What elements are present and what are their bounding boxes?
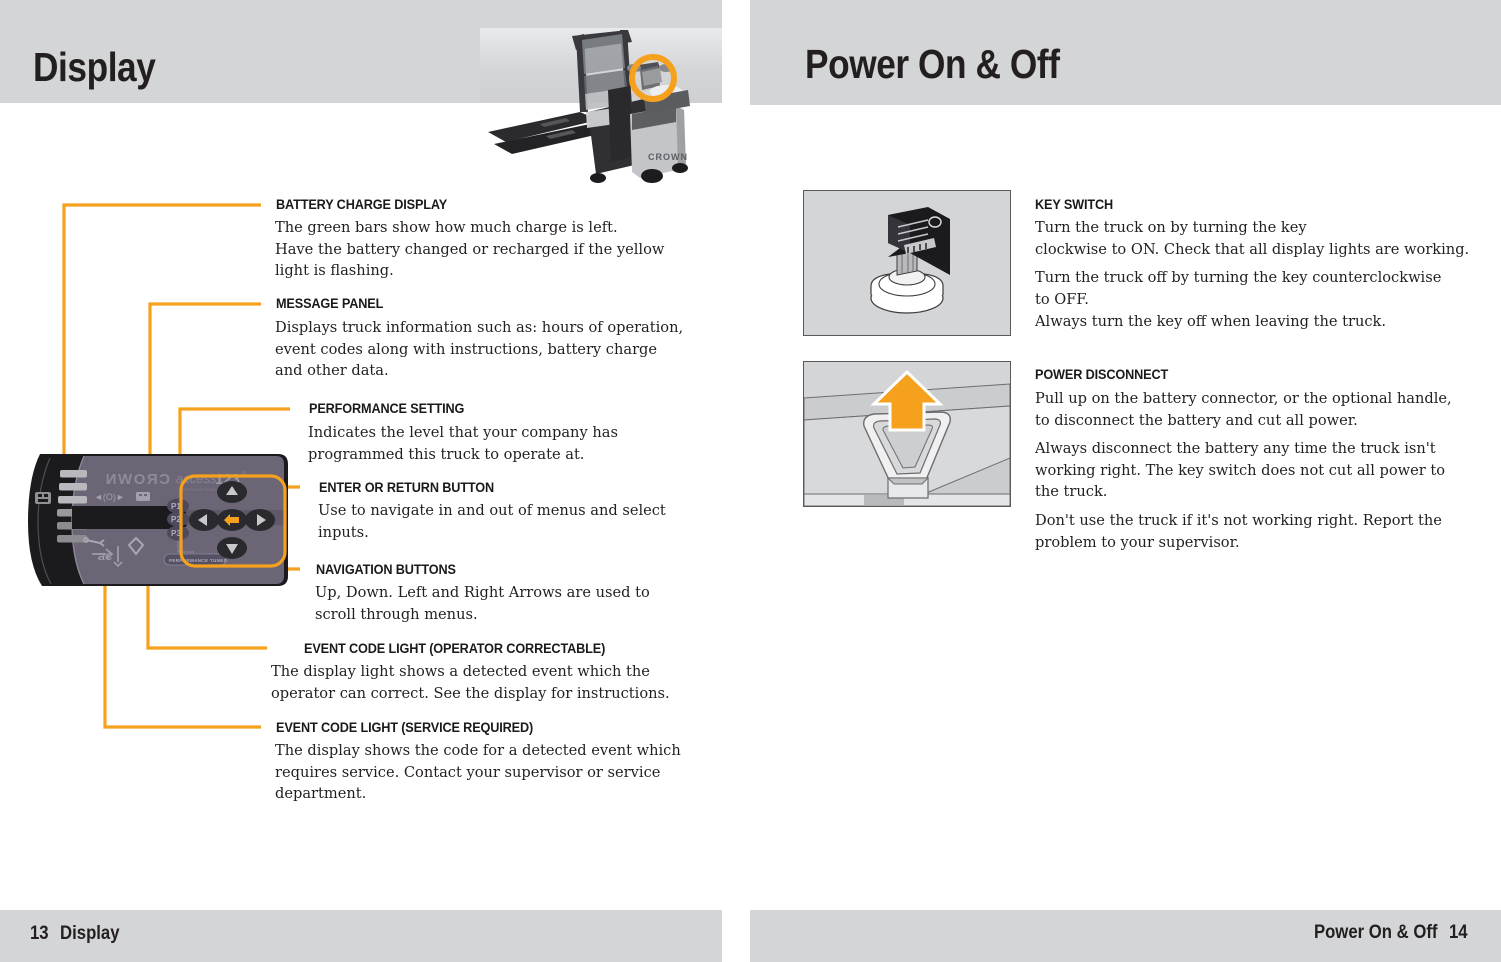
display-panel-illustration: CROWN access 123 ® performance made easy… [26,444,292,594]
footer-section-label: Power On & Off [1314,922,1438,943]
svg-text:P2: P2 [171,515,181,524]
page-title-display: Display [33,44,155,91]
svg-text:P3: P3 [171,529,181,538]
annotation-title-performance-setting: PERFORMANCE SETTING [309,401,464,416]
pallet-truck-photo: CROWN [480,28,722,200]
annotation-body-performance-setting: Indicates the level that your company ha… [308,422,708,465]
battery-icon [35,492,51,504]
svg-text:P1: P1 [171,502,181,511]
power-disconnect-figure [803,361,1011,507]
horn-icon: ◄(O)► [94,492,125,502]
annotation-body-message-panel: Displays truck information such as: hour… [275,317,715,382]
left-page: Display [0,0,722,962]
manual-spread: Display [0,0,1501,962]
right-page: Power On & Off [750,0,1501,962]
performance-tuned-label: PERFORMANCE TUNED [164,554,228,565]
annotation-title-event-code-light-operator-correctable: EVENT CODE LIGHT (OPERATOR CORRECTABLE) [304,641,605,656]
section-paragraph-power-disconnect-1: Pull up on the battery connector, or the… [1035,388,1495,431]
annotation-body-enter-or-return-button: Use to navigate in and out of menus and … [318,500,718,543]
section-paragraph-power-disconnect-2: Always disconnect the battery any time t… [1035,438,1495,503]
svg-text:access: access [176,471,217,486]
page-title-power-on-off: Power On & Off [805,41,1060,88]
svg-text:CROWN: CROWN [648,152,688,162]
section-title-power-disconnect: POWER DISCONNECT [1035,367,1168,382]
annotation-title-battery-charge-display: BATTERY CHARGE DISPLAY [276,197,447,212]
section-paragraph-key-switch-1: Turn the truck on by turning the key clo… [1035,217,1490,260]
footer-section-label: Display [60,923,119,944]
section-paragraph-key-switch-2: Turn the truck off by turning the key co… [1035,267,1490,310]
annotation-title-navigation-buttons: NAVIGATION BUTTONS [316,562,456,577]
right-page-footer: Power On & Off14 [1314,922,1468,944]
svg-text:PERFORMANCE TUNED: PERFORMANCE TUNED [169,558,228,563]
annotation-title-enter-or-return-button: ENTER OR RETURN BUTTON [319,480,494,495]
footer-page-number: 14 [1449,922,1468,943]
annotation-body-event-code-light-service-required: The display shows the code for a detecte… [275,740,720,805]
key-in-ignition-illustration [804,191,1010,335]
battery-small-icon [136,492,150,501]
left-page-footer: 13Display [30,923,120,945]
section-paragraph-power-disconnect-3: Don't use the truck if it's not working … [1035,510,1495,553]
annotation-title-message-panel: MESSAGE PANEL [276,296,383,311]
section-title-key-switch: KEY SWITCH [1035,197,1113,212]
key-switch-figure [803,190,1011,336]
truck-illustration: CROWN [480,28,722,200]
annotation-body-event-code-light-operator-correctable: The display light shows a detected event… [271,661,716,704]
annotation-body-navigation-buttons: Up, Down. Left and Right Arrows are used… [315,582,715,625]
annotation-body-battery-charge-display: The green bars show how much charge is l… [275,217,705,282]
panel-brand-text: CROWN [104,471,170,488]
display-panel-svg: CROWN access 123 ® performance made easy… [26,444,292,594]
annotation-title-event-code-light-service-required: EVENT CODE LIGHT (SERVICE REQUIRED) [276,720,533,735]
svg-text:®: ® [242,471,247,478]
section-paragraph-key-switch-3: Always turn the key off when leaving the… [1035,311,1490,333]
footer-page-number: 13 [30,923,49,944]
battery-connector-handle-illustration [804,362,1010,506]
